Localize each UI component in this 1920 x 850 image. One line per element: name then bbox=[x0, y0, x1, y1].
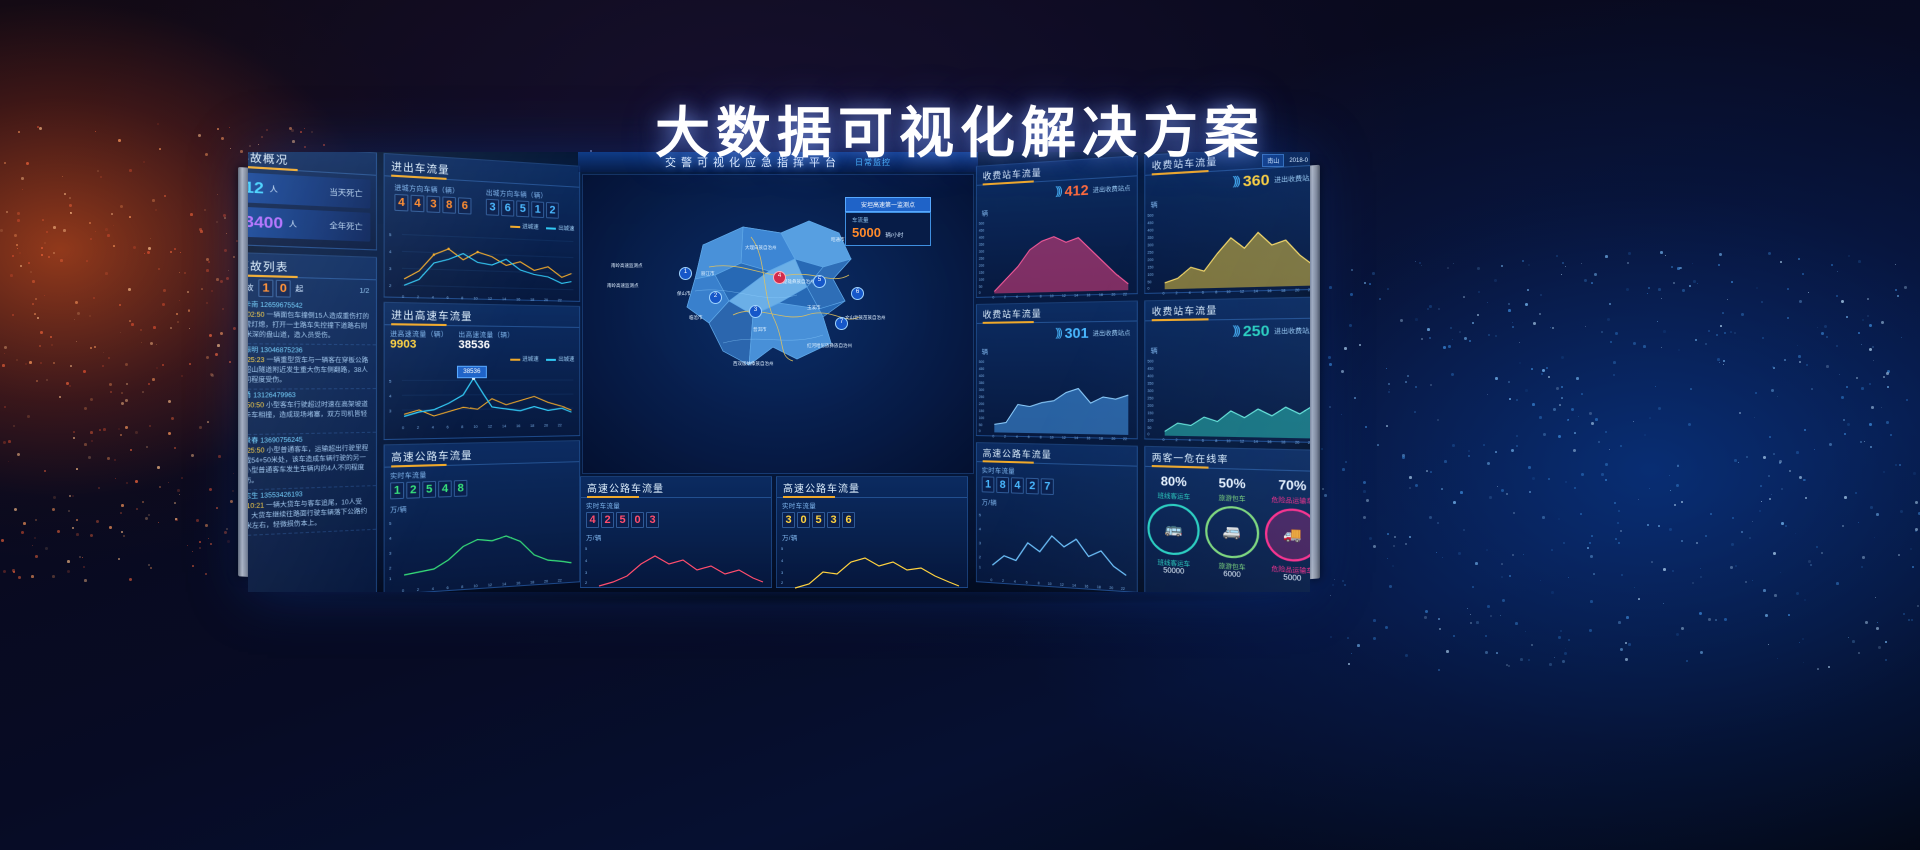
particle bbox=[174, 447, 176, 449]
particle bbox=[1487, 605, 1490, 608]
particle bbox=[119, 304, 121, 306]
particle bbox=[1755, 392, 1757, 394]
particle bbox=[1858, 332, 1860, 334]
particle bbox=[1795, 533, 1796, 534]
particle bbox=[1621, 574, 1623, 576]
svg-text:8: 8 bbox=[461, 425, 463, 429]
svg-text:6: 6 bbox=[1028, 435, 1030, 439]
svg-text:450: 450 bbox=[979, 367, 985, 371]
accident-count-unit: 起 bbox=[295, 284, 303, 295]
svg-text:4: 4 bbox=[781, 558, 784, 563]
list-item[interactable]: 郑勇 13126479963 11:50:50 小型客车行驶超过时速在高架坡道的… bbox=[248, 389, 376, 435]
particle bbox=[204, 209, 206, 211]
svg-text:18: 18 bbox=[1099, 436, 1103, 440]
svg-text:2: 2 bbox=[1176, 438, 1178, 442]
particle bbox=[69, 197, 71, 199]
highway-flow-chart-4: 54321 0246 8101214 16182022 bbox=[977, 506, 1135, 592]
svg-text:8: 8 bbox=[1215, 439, 1217, 443]
svg-text:350: 350 bbox=[979, 243, 985, 247]
digit: 0 bbox=[797, 512, 810, 528]
particle bbox=[1364, 282, 1366, 284]
particle bbox=[1777, 396, 1778, 397]
list-item[interactable]: 黄志生 13553426193 11:10:21 一辆大货车与客车追尾，10人受… bbox=[248, 486, 376, 537]
particle bbox=[232, 490, 234, 492]
particle bbox=[1759, 510, 1761, 512]
particle bbox=[1609, 449, 1610, 450]
map-body[interactable]: 大理白族自治州 昭通市 楚雄彝族自治州 丽江市 临沧市 保山市 玉溪市 普洱市 … bbox=[582, 174, 974, 474]
svg-text:3: 3 bbox=[389, 266, 392, 271]
particle bbox=[1831, 264, 1833, 266]
particle bbox=[1516, 445, 1518, 447]
kpi-item[interactable]: 50% 旅游包车 🚐 旅游包车 6000 bbox=[1205, 475, 1259, 580]
digit: 0 bbox=[631, 512, 644, 528]
particle bbox=[1556, 387, 1559, 390]
highway-in-label: 进高速流量（辆） bbox=[390, 327, 448, 338]
particle bbox=[1430, 384, 1432, 386]
map-label: 文山壮族苗族自治州 bbox=[845, 315, 886, 321]
particle bbox=[105, 272, 108, 275]
svg-text:400: 400 bbox=[979, 235, 985, 239]
particle bbox=[31, 575, 34, 578]
particle bbox=[1860, 441, 1862, 443]
particle bbox=[1470, 614, 1471, 615]
digit: 3 bbox=[827, 512, 840, 528]
hero-banner: 大数据可视化解决方案 南山 2018-0 事故概况 12 人 当天死亡 bbox=[0, 0, 1920, 850]
svg-text:4: 4 bbox=[389, 249, 392, 254]
kpi-item[interactable]: 70% 危险品运输车 🚚 危险品运输车 5000 bbox=[1265, 477, 1310, 584]
particle bbox=[72, 495, 74, 497]
particle bbox=[1799, 300, 1802, 303]
particle bbox=[1734, 459, 1737, 462]
inout-out-block: 出城方向车辆（辆） 3 6 5 1 2 bbox=[481, 184, 564, 221]
particle bbox=[1525, 631, 1526, 632]
particle bbox=[1824, 325, 1827, 328]
map-pin[interactable]: 1 bbox=[679, 267, 692, 280]
highway-flow-digits: 3 0 5 3 6 bbox=[777, 510, 967, 530]
inout-in-block: 进城方向车辆（辆） 4 4 3 8 6 bbox=[389, 179, 477, 217]
particle bbox=[1723, 364, 1724, 365]
particle bbox=[1531, 368, 1533, 370]
particle bbox=[1548, 478, 1550, 480]
particle bbox=[153, 326, 156, 329]
digit: 4 bbox=[438, 480, 452, 497]
svg-text:450: 450 bbox=[1147, 221, 1153, 226]
svg-text:250: 250 bbox=[979, 395, 985, 399]
particle bbox=[199, 541, 201, 543]
digit: 2 bbox=[406, 481, 420, 498]
particle bbox=[98, 487, 100, 489]
svg-text:100: 100 bbox=[979, 278, 985, 282]
panel-toll-4: 收费站车流量 ))) 250 进出收费站点 辆 500450400350 300… bbox=[1144, 296, 1310, 443]
particle bbox=[1369, 283, 1371, 285]
particle bbox=[1898, 554, 1900, 556]
particle bbox=[83, 370, 86, 373]
particle bbox=[1886, 421, 1889, 424]
particle bbox=[1581, 473, 1584, 476]
particle bbox=[37, 317, 39, 319]
accident-time: 12:25:50 bbox=[248, 448, 265, 455]
particle bbox=[1562, 262, 1564, 264]
particle bbox=[97, 170, 99, 172]
toll-chart-1: 500450400350 300250200150 100500 0246 81… bbox=[977, 210, 1135, 300]
particle bbox=[1643, 345, 1646, 348]
particle bbox=[1658, 525, 1660, 527]
particle bbox=[184, 272, 186, 274]
particle bbox=[1910, 548, 1912, 550]
particle bbox=[84, 579, 87, 582]
svg-text:5: 5 bbox=[781, 546, 784, 551]
panel-online-rate: 两客一危在线率 80% 班线客运车 🚌 班线客运车 50000 50% 旅游包车 bbox=[1144, 446, 1310, 592]
digit: 4 bbox=[411, 195, 425, 213]
particle bbox=[1787, 317, 1789, 319]
particle bbox=[12, 255, 14, 257]
particle bbox=[1394, 536, 1396, 538]
particle bbox=[1681, 501, 1683, 503]
particle bbox=[189, 363, 191, 365]
map-pin[interactable]: 7 bbox=[835, 317, 848, 330]
accident-time: 11:50:50 bbox=[248, 403, 264, 410]
particle bbox=[121, 504, 124, 507]
digit: 2 bbox=[601, 512, 614, 528]
particle bbox=[1528, 264, 1530, 266]
svg-text:500: 500 bbox=[1147, 359, 1153, 363]
particle bbox=[18, 576, 21, 579]
panel-highway-flow-3: 高速公路车流量 实时车流量 3 0 5 3 6 万/辆 5432 bbox=[776, 476, 968, 588]
highway-flow-title: 高速公路车流量 bbox=[581, 477, 771, 498]
particle bbox=[1500, 615, 1501, 616]
particle bbox=[1798, 258, 1800, 260]
particle bbox=[1828, 666, 1830, 668]
svg-text:150: 150 bbox=[979, 271, 985, 275]
particle bbox=[155, 209, 157, 211]
particle bbox=[1719, 362, 1720, 363]
svg-text:250: 250 bbox=[1147, 250, 1153, 255]
svg-text:6: 6 bbox=[1028, 295, 1030, 299]
accident-text: 一辆大货车与客车追尾，10人受伤，大货车继续往路面行驶车辆落下公路约60米左右，… bbox=[248, 499, 367, 530]
svg-text:0: 0 bbox=[402, 426, 404, 430]
particle bbox=[181, 477, 183, 479]
particle bbox=[1453, 263, 1454, 264]
particle bbox=[1564, 652, 1567, 655]
svg-text:450: 450 bbox=[979, 228, 985, 232]
particle bbox=[1402, 456, 1405, 459]
particle bbox=[52, 575, 55, 578]
map-tooltip-value: 5000 bbox=[852, 225, 881, 240]
map-pin[interactable]: 3 bbox=[749, 305, 762, 318]
particle bbox=[220, 280, 223, 283]
map-label: 南岭高速监测点 bbox=[607, 283, 639, 289]
particle bbox=[1695, 339, 1697, 341]
digit: 3 bbox=[782, 512, 795, 528]
particle bbox=[1858, 260, 1861, 263]
particle bbox=[1409, 476, 1412, 479]
particle bbox=[10, 274, 13, 277]
particle bbox=[1477, 314, 1479, 316]
particle bbox=[1762, 337, 1764, 339]
particle bbox=[63, 229, 66, 232]
particle bbox=[1485, 635, 1487, 637]
particle bbox=[103, 352, 104, 353]
particle bbox=[1502, 599, 1505, 602]
particle bbox=[1342, 580, 1344, 582]
particle bbox=[40, 362, 42, 364]
particle bbox=[1386, 368, 1387, 369]
particle bbox=[1722, 312, 1724, 314]
accident-tel: 13690756245 bbox=[260, 437, 302, 444]
svg-text:10: 10 bbox=[1226, 290, 1230, 295]
highway-flow-sub: 实时车流量 bbox=[581, 498, 771, 510]
particle bbox=[1464, 337, 1467, 340]
digit: 3 bbox=[427, 196, 441, 213]
particle bbox=[1540, 580, 1541, 581]
particle bbox=[1387, 558, 1388, 559]
particle bbox=[57, 530, 60, 533]
svg-text:6: 6 bbox=[1202, 290, 1204, 294]
map-label: 红河哈尼族彝族自治州 bbox=[807, 343, 852, 349]
particle bbox=[133, 246, 136, 249]
particle bbox=[1874, 537, 1875, 538]
svg-text:6: 6 bbox=[1026, 580, 1028, 584]
particle bbox=[1369, 537, 1372, 540]
highway-flow-yunit: 万/辆 bbox=[777, 530, 967, 542]
particle bbox=[1469, 340, 1471, 342]
particle bbox=[111, 213, 113, 215]
particle bbox=[192, 565, 194, 567]
particle bbox=[207, 421, 209, 423]
particle bbox=[77, 312, 80, 315]
particle bbox=[1886, 372, 1889, 375]
particle bbox=[1405, 654, 1408, 657]
svg-text:20: 20 bbox=[544, 579, 548, 583]
particle bbox=[1453, 501, 1456, 504]
particle bbox=[93, 297, 95, 299]
particle bbox=[1561, 397, 1563, 399]
particle bbox=[1810, 564, 1812, 566]
particle bbox=[1763, 456, 1766, 459]
particle bbox=[1558, 636, 1561, 639]
particle bbox=[1508, 309, 1511, 312]
list-item[interactable]: 王卡南 12659675542 15:02:50 一辆面包车撞倒15人造成重伤打… bbox=[248, 299, 376, 346]
particle bbox=[1415, 318, 1418, 321]
particle bbox=[1558, 518, 1560, 520]
digit: 5 bbox=[516, 200, 529, 217]
svg-text:300: 300 bbox=[979, 250, 985, 254]
svg-text:250: 250 bbox=[1147, 396, 1153, 400]
particle bbox=[1565, 266, 1566, 267]
particle bbox=[141, 342, 142, 343]
svg-text:0: 0 bbox=[1147, 286, 1149, 290]
legend-label: 出城速 bbox=[558, 357, 574, 363]
accident-pager[interactable]: 1/2 bbox=[359, 287, 369, 295]
accident-tel: 12659675542 bbox=[260, 303, 302, 310]
particle bbox=[75, 301, 78, 304]
particle bbox=[1727, 299, 1728, 300]
svg-text:4: 4 bbox=[1189, 438, 1191, 442]
particle bbox=[1351, 269, 1353, 271]
particle bbox=[224, 217, 226, 219]
particle bbox=[1625, 658, 1628, 661]
particle bbox=[1609, 303, 1611, 305]
right-particle-field bbox=[1320, 250, 1920, 670]
map-pin[interactable]: 2 bbox=[709, 291, 722, 304]
particle bbox=[100, 176, 102, 178]
particle bbox=[206, 356, 209, 359]
particle bbox=[1511, 449, 1514, 452]
particle bbox=[1647, 293, 1648, 294]
list-item[interactable]: 梁振明 13046875236 14:25:23 一辆重型货车与一辆客在穿板公路… bbox=[248, 344, 376, 390]
particle bbox=[1897, 295, 1899, 297]
svg-text:8: 8 bbox=[461, 585, 463, 589]
digit: 6 bbox=[458, 197, 471, 214]
inout-in-digits: 4 4 3 8 6 bbox=[389, 191, 477, 216]
particle bbox=[1862, 556, 1865, 559]
map-pin[interactable]: 6 bbox=[851, 287, 864, 300]
svg-text:100: 100 bbox=[1147, 418, 1153, 422]
particle bbox=[1769, 436, 1771, 438]
particle bbox=[1876, 513, 1879, 516]
particle bbox=[129, 216, 131, 218]
particle bbox=[1372, 272, 1375, 275]
particle bbox=[115, 478, 116, 479]
particle bbox=[147, 251, 150, 254]
particle bbox=[21, 177, 24, 180]
particle bbox=[1485, 651, 1488, 654]
particle bbox=[40, 331, 43, 334]
particle bbox=[1560, 630, 1562, 632]
digit: 2 bbox=[1026, 478, 1039, 495]
svg-text:0: 0 bbox=[1163, 291, 1165, 295]
map-pin[interactable]: 4 bbox=[773, 271, 786, 284]
particle bbox=[1580, 513, 1582, 515]
digit: 5 bbox=[616, 512, 629, 528]
svg-text:0: 0 bbox=[992, 295, 994, 299]
particle bbox=[69, 385, 71, 387]
particle bbox=[1865, 621, 1868, 624]
svg-text:250: 250 bbox=[979, 257, 985, 261]
map-label: 楚雄彝族自治州 bbox=[783, 279, 815, 285]
particle bbox=[1798, 355, 1801, 358]
particle bbox=[20, 265, 22, 267]
particle bbox=[1761, 501, 1762, 502]
particle bbox=[1780, 572, 1781, 573]
particle bbox=[1692, 263, 1693, 264]
digit: 5 bbox=[812, 512, 825, 528]
particle bbox=[142, 501, 144, 503]
particle bbox=[34, 313, 36, 315]
particle bbox=[42, 219, 44, 221]
particle bbox=[1676, 633, 1679, 636]
svg-text:50: 50 bbox=[1147, 280, 1151, 284]
particle bbox=[1862, 319, 1864, 321]
panel-inout-flow: 进出车流量 进城方向车辆（辆） 4 4 3 8 6 bbox=[384, 153, 581, 302]
particle bbox=[1796, 451, 1799, 454]
particle bbox=[1561, 274, 1562, 275]
svg-text:8: 8 bbox=[461, 296, 463, 300]
svg-text:50: 50 bbox=[979, 285, 983, 289]
particle bbox=[175, 518, 177, 520]
particle bbox=[1379, 298, 1381, 300]
dashboard-screen: 南山 2018-0 事故概况 12 人 当天死亡 3400 人 全年死亡 bbox=[238, 152, 1318, 592]
particle bbox=[1826, 336, 1828, 338]
particle bbox=[1872, 346, 1874, 348]
svg-text:50: 50 bbox=[1147, 426, 1151, 430]
particle bbox=[72, 527, 74, 529]
particle bbox=[12, 314, 14, 316]
particle bbox=[1486, 549, 1488, 551]
dashboard-board: 南山 2018-0 事故概况 12 人 当天死亡 3400 人 全年死亡 bbox=[248, 152, 1310, 592]
particle bbox=[66, 382, 69, 385]
list-item[interactable]: 陈景春 13690756245 12:25:50 小型普通客车，运输超出行驶里程… bbox=[248, 433, 376, 491]
particle bbox=[59, 396, 61, 398]
particle bbox=[205, 573, 207, 575]
particle bbox=[1366, 499, 1369, 502]
digit: 2 bbox=[546, 202, 559, 219]
particle bbox=[1836, 295, 1838, 297]
particle bbox=[29, 361, 32, 364]
accident-name: 陈景春 bbox=[248, 438, 258, 445]
svg-text:22: 22 bbox=[1123, 437, 1127, 441]
particle bbox=[1779, 460, 1782, 463]
particle bbox=[1799, 642, 1800, 643]
particle bbox=[1718, 264, 1720, 266]
particle bbox=[156, 367, 158, 369]
particle bbox=[148, 564, 150, 566]
stat-value: 3400 bbox=[248, 212, 283, 232]
particle bbox=[126, 482, 128, 484]
particle bbox=[1883, 471, 1885, 473]
particle bbox=[1895, 264, 1896, 265]
map-pin[interactable]: 5 bbox=[813, 275, 826, 288]
particle bbox=[168, 400, 171, 403]
panel-highway-flow-1: 高速公路车流量 实时车流量 1 2 5 4 8 万/辆 54321 bbox=[384, 440, 581, 592]
accident-time: 15:02:50 bbox=[248, 312, 265, 319]
particle bbox=[1373, 637, 1376, 640]
particle bbox=[1774, 594, 1777, 597]
particle bbox=[1681, 540, 1683, 542]
map-tooltip-title: 安坦高速第一监测点 bbox=[845, 197, 931, 212]
svg-text:0: 0 bbox=[992, 434, 994, 438]
svg-text:14: 14 bbox=[502, 582, 506, 586]
particle bbox=[129, 578, 132, 581]
particle bbox=[1437, 522, 1439, 524]
particle bbox=[1488, 334, 1490, 336]
particle bbox=[69, 495, 71, 497]
particle bbox=[1495, 377, 1498, 380]
particle bbox=[1708, 618, 1711, 621]
particle bbox=[1719, 253, 1722, 256]
particle bbox=[229, 361, 231, 363]
particle bbox=[1591, 282, 1593, 284]
particle bbox=[1741, 313, 1744, 316]
particle bbox=[1871, 406, 1874, 409]
svg-text:10: 10 bbox=[474, 584, 478, 588]
particle bbox=[1799, 361, 1801, 363]
kpi-item[interactable]: 80% 班线客运车 🚌 班线客运车 50000 bbox=[1148, 473, 1200, 576]
particle bbox=[176, 313, 178, 315]
svg-text:350: 350 bbox=[979, 381, 985, 385]
particle bbox=[1648, 287, 1650, 289]
particle bbox=[1533, 322, 1536, 325]
particle bbox=[76, 341, 77, 342]
particle bbox=[1780, 261, 1782, 263]
particle bbox=[1618, 542, 1620, 544]
particle bbox=[1731, 543, 1734, 546]
particle bbox=[4, 353, 5, 354]
particle bbox=[1856, 377, 1858, 379]
particle bbox=[157, 466, 160, 469]
particle bbox=[1347, 637, 1349, 639]
particle bbox=[1875, 597, 1876, 598]
